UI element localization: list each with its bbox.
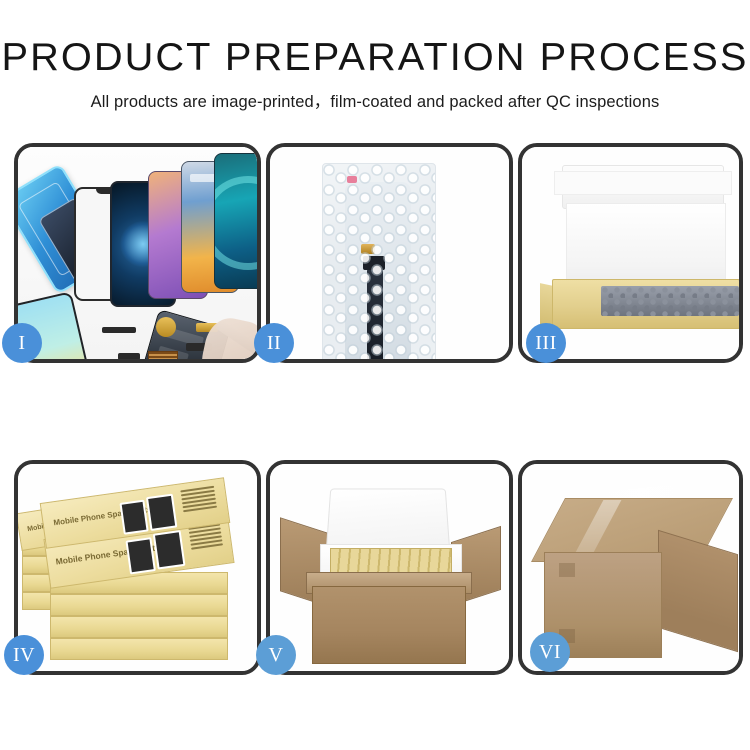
- step-badge-6: VI: [530, 632, 570, 672]
- panel-image-4: Mobile Phone Spare Parts Mobile Phone Sp…: [18, 464, 257, 671]
- bubble-wrap-bag: [322, 163, 436, 359]
- panel-frame: [266, 460, 513, 675]
- panel-step-6[interactable]: VI: [518, 460, 743, 675]
- panel-frame: [14, 143, 261, 363]
- panel-step-1[interactable]: I: [14, 143, 261, 363]
- infographic-page: PRODUCT PREPARATION PROCESS All products…: [0, 0, 750, 750]
- step-badge-5: V: [256, 635, 296, 675]
- part-chip-grid: [148, 351, 178, 359]
- carton-body: [312, 586, 466, 664]
- phone-teal-swirl: [214, 153, 257, 289]
- panel-step-2[interactable]: II: [266, 143, 513, 363]
- process-grid: I II: [0, 0, 750, 750]
- part-button-flex: [118, 353, 140, 359]
- panel-image-1: [18, 147, 257, 359]
- wrapped-contents: [601, 286, 739, 316]
- step-badge-3: III: [526, 323, 566, 363]
- step-badge-2: II: [254, 323, 294, 363]
- panel-step-4[interactable]: Mobile Phone Spare Parts Mobile Phone Sp…: [14, 460, 261, 675]
- panel-step-5[interactable]: V: [266, 460, 513, 675]
- panel-step-3[interactable]: III: [518, 143, 743, 363]
- panel-frame: [266, 143, 513, 363]
- panel-image-2: [270, 147, 509, 359]
- panel-frame: Mobile Phone Spare Parts Mobile Phone Sp…: [14, 460, 261, 675]
- panel-image-5: [270, 464, 509, 671]
- step-badge-1: I: [2, 323, 42, 363]
- part-speaker-mesh: [102, 327, 136, 333]
- step-badge-4: IV: [4, 635, 44, 675]
- part-gold-coil: [156, 317, 176, 337]
- yellow-inner-box: [552, 279, 739, 329]
- box-lid-back: [554, 171, 732, 195]
- carton-side-face: [658, 530, 738, 652]
